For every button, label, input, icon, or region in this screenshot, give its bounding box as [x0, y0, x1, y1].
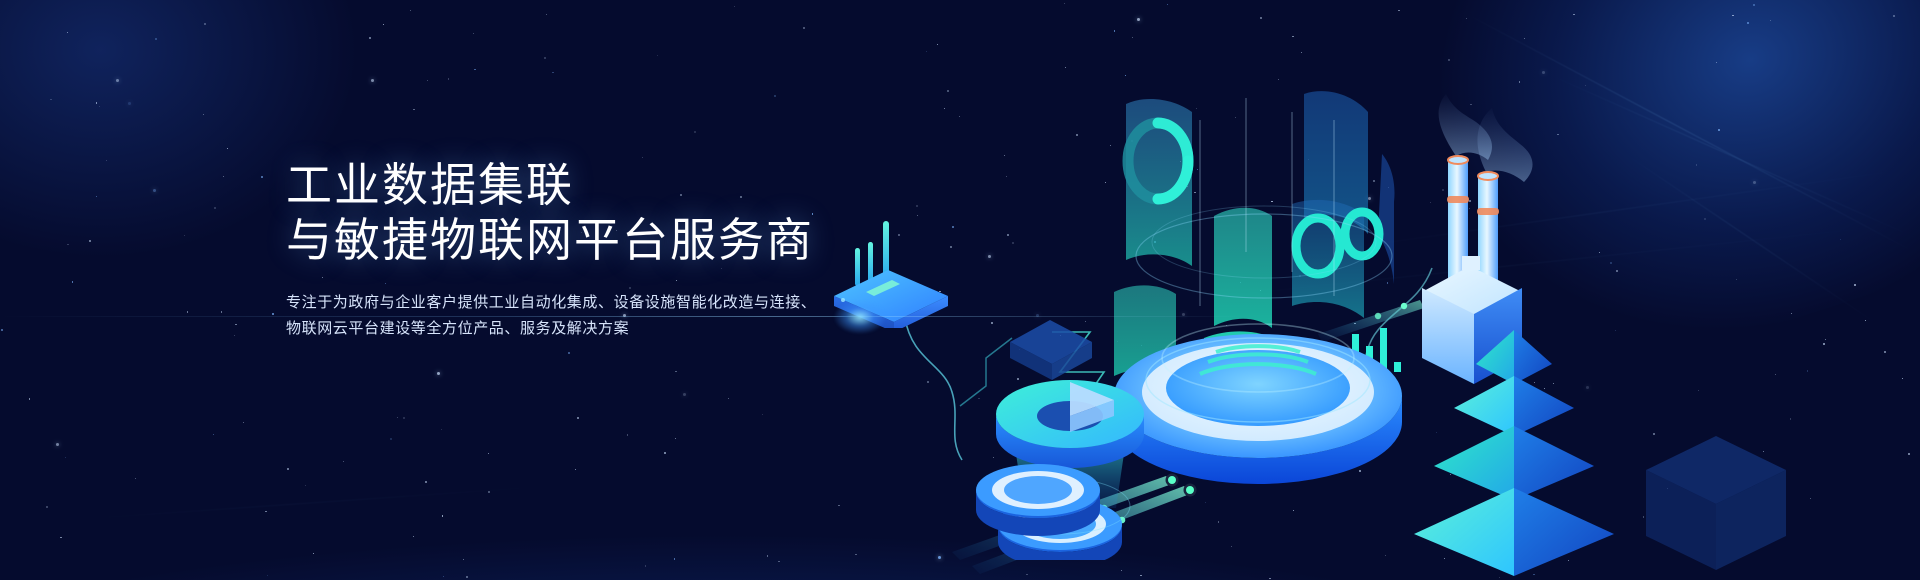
headline-line-1: 工业数据集联	[286, 159, 574, 211]
factory-smokestacks	[1400, 60, 1680, 320]
right-dim-cube	[1626, 430, 1826, 580]
hero-banner: 工业数据集联 与敏捷物联网平台服务商 专注于为政府与企业客户提供工业自动化集成、…	[0, 0, 1920, 580]
left-ring-plate	[962, 430, 1142, 580]
small-iso-block	[1000, 318, 1120, 398]
subtitle-line-2: 物联网云平台建设等全方位产品、服务及解决方案	[286, 316, 816, 342]
subtitle-line-1: 专注于为政府与企业客户提供工业自动化集成、设备设施智能化改造与连接、	[286, 290, 816, 316]
headline-line-2: 与敏捷物联网平台服务商	[286, 213, 986, 268]
hero-subtitle: 专注于为政府与企业客户提供工业自动化集成、设备设施智能化改造与连接、 物联网云平…	[286, 290, 816, 342]
hero-copy: 工业数据集联 与敏捷物联网平台服务商 专注于为政府与企业客户提供工业自动化集成、…	[286, 158, 986, 342]
page-title: 工业数据集联 与敏捷物联网平台服务商	[286, 158, 986, 268]
pyramid-stack	[1410, 330, 1650, 580]
